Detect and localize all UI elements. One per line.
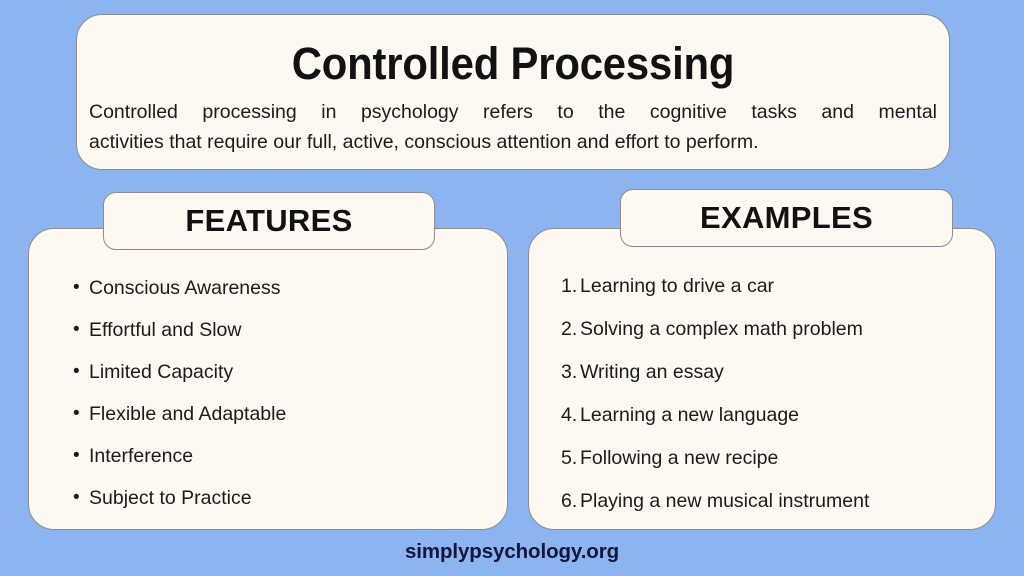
list-item: Solving a complex math problem (561, 308, 869, 351)
examples-list: Learning to drive a car Solving a comple… (561, 265, 869, 523)
list-item: Interference (73, 435, 286, 477)
title-card: Controlled Processing Controlled process… (76, 14, 950, 170)
list-item: Flexible and Adaptable (73, 393, 286, 435)
list-item: Limited Capacity (73, 351, 286, 393)
list-item: Subject to Practice (73, 477, 286, 519)
description-text: Controlled processing in psychology refe… (89, 97, 937, 157)
features-panel: Conscious Awareness Effortful and Slow L… (28, 228, 508, 530)
page-title: Controlled Processing (108, 38, 919, 90)
list-item: Following a new recipe (561, 437, 869, 480)
examples-heading-box: EXAMPLES (620, 189, 953, 247)
list-item: Effortful and Slow (73, 309, 286, 351)
description-line-1: Controlled processing in psychology refe… (89, 97, 937, 127)
list-item: Writing an essay (561, 351, 869, 394)
examples-heading-label: EXAMPLES (700, 200, 873, 236)
features-heading-box: FEATURES (103, 192, 435, 250)
features-heading-label: FEATURES (185, 203, 352, 239)
description-line-2: activities that require our full, active… (89, 127, 937, 157)
list-item: Learning a new language (561, 394, 869, 437)
features-list: Conscious Awareness Effortful and Slow L… (73, 267, 286, 519)
list-item: Playing a new musical instrument (561, 480, 869, 523)
list-item: Learning to drive a car (561, 265, 869, 308)
examples-panel: Learning to drive a car Solving a comple… (528, 228, 996, 530)
list-item: Conscious Awareness (73, 267, 286, 309)
infographic-canvas: Controlled Processing Controlled process… (0, 0, 1024, 576)
source-attribution: simplypsychology.org (0, 540, 1024, 564)
